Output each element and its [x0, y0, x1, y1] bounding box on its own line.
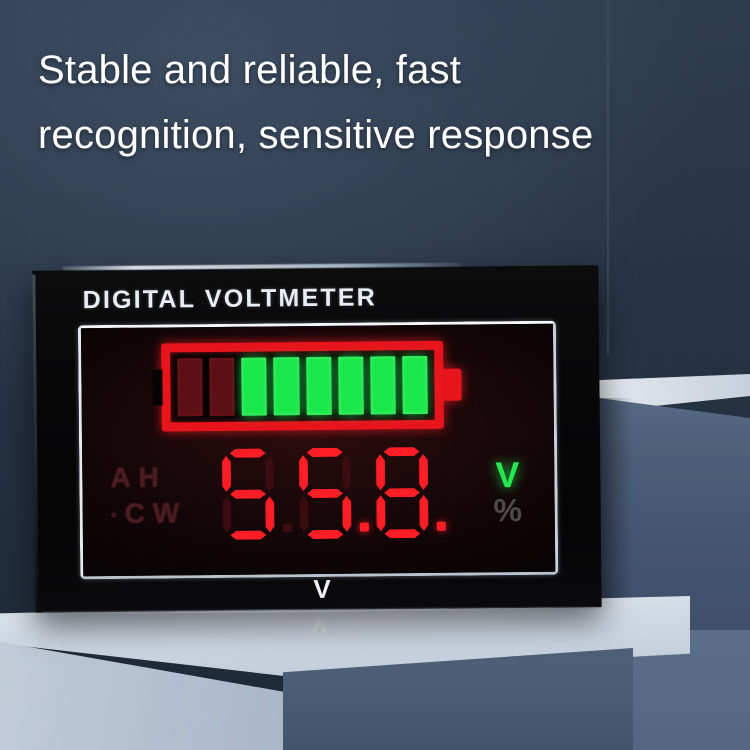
lcd-bezel: A H ° C W — [78, 321, 558, 580]
headline-line-1: Stable and reliable, fast — [38, 38, 728, 103]
segment-a — [307, 448, 343, 457]
seven-segment-digit — [372, 445, 435, 542]
segment-b — [419, 454, 428, 490]
battery-terminal-nub — [441, 369, 461, 401]
segment-a — [230, 448, 266, 457]
unit-w-label: W — [153, 497, 182, 529]
unit-row-ah: A H — [110, 461, 194, 494]
segment-c — [419, 495, 428, 531]
product-photo-scene: Stable and reliable, fast recognition, s… — [0, 0, 750, 750]
segment-e — [376, 495, 385, 531]
battery-cells — [177, 356, 428, 416]
segment-b — [265, 455, 274, 491]
segment-c — [342, 496, 351, 532]
segment-f — [299, 455, 308, 491]
unit-c-label: C — [125, 498, 148, 530]
headline-line-2: recognition, sensitive response — [38, 103, 728, 168]
unit-h-label: H — [138, 462, 161, 494]
right-unit-indicators: V % — [470, 458, 541, 527]
seven-segment-digit — [295, 446, 358, 543]
decimal-point — [436, 522, 445, 531]
segment-d — [307, 530, 343, 539]
left-unit-indicators: A H ° C W — [110, 461, 195, 530]
segment-c — [265, 496, 274, 532]
battery-cell — [209, 358, 235, 416]
seven-segment-display — [194, 445, 471, 544]
digital-voltmeter-device: DIGITAL VOLTMETER — [32, 265, 601, 612]
segment-g — [384, 488, 420, 497]
decimal-point — [282, 523, 291, 532]
segment-g — [230, 489, 266, 498]
segment-e — [222, 497, 231, 533]
battery-level-indicator — [161, 341, 462, 432]
segment-f — [376, 454, 385, 490]
device-brand-label: DIGITAL VOLTMETER — [83, 283, 378, 315]
segment-e — [299, 496, 308, 532]
lcd-screen: A H ° C W — [81, 324, 555, 577]
decimal-point — [359, 523, 368, 532]
battery-left-notch — [152, 369, 162, 405]
battery-cell — [274, 357, 300, 415]
segment-d — [230, 530, 266, 539]
unit-row-cw: ° C W — [111, 497, 195, 530]
volt-unit-label: V — [495, 458, 519, 492]
segment-f — [222, 456, 231, 492]
segment-g — [307, 489, 343, 498]
segment-b — [342, 455, 351, 491]
segment-d — [384, 529, 420, 538]
lcd-readout-row: A H ° C W — [110, 436, 541, 552]
degree-symbol-icon: ° — [111, 510, 119, 527]
pedestal-reflection-v: V — [312, 615, 328, 635]
battery-cell — [306, 357, 332, 415]
segment-a — [384, 447, 420, 456]
unit-a-label: A — [110, 462, 133, 494]
battery-cell — [370, 356, 396, 414]
headline: Stable and reliable, fast recognition, s… — [38, 38, 728, 168]
battery-cell — [402, 356, 428, 414]
device-bottom-v-marking: V — [313, 574, 332, 605]
battery-cell — [177, 358, 203, 416]
battery-cell — [241, 357, 267, 415]
seven-segment-digit — [218, 446, 281, 543]
percent-unit-label: % — [493, 494, 522, 526]
battery-cell — [338, 357, 364, 415]
